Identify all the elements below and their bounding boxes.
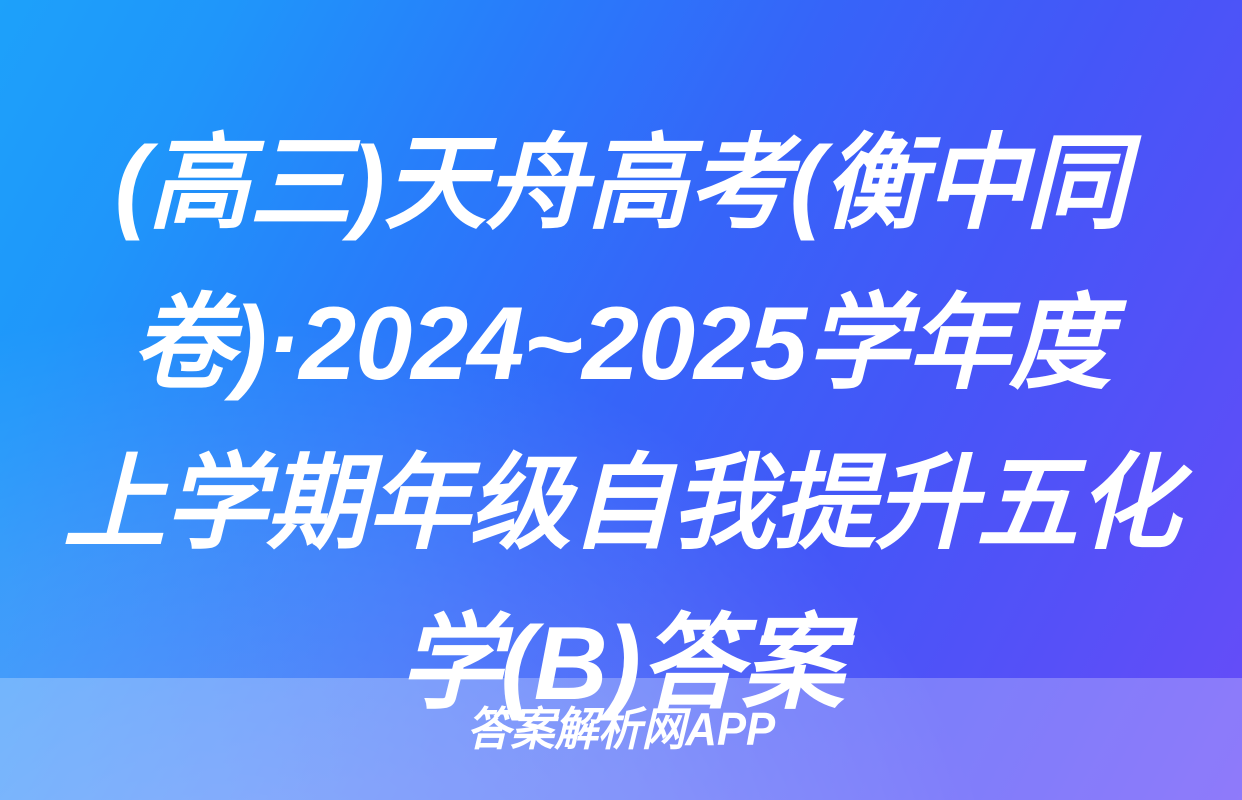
watermark-app-name: 答案解析网APP (31, 700, 1211, 758)
poster-title: (高三)天舟高考(衡中同 卷)·2024~2025学年度 上学期年级自我提升五化… (0, 0, 1242, 744)
title-line-2: 卷)·2024~2025学年度 (9, 264, 1232, 424)
poster-canvas: (高三)天舟高考(衡中同 卷)·2024~2025学年度 上学期年级自我提升五化… (0, 0, 1242, 800)
title-line-1: (高三)天舟高考(衡中同 (9, 104, 1232, 264)
title-line-3: 上学期年级自我提升五化 (9, 424, 1232, 584)
